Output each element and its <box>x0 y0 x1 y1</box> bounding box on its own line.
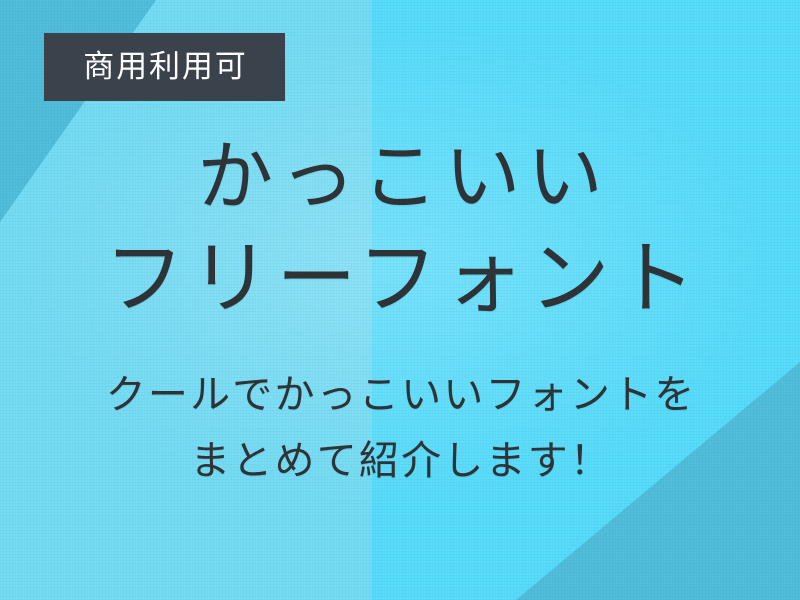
subtitle-line-2: まとめて紹介します！ <box>0 428 800 494</box>
subtitle-line-1: クールでかっこいいフォントを <box>0 362 800 428</box>
banner-canvas: 商用利用可 かっこいい フリーフォント クールでかっこいいフォントを まとめて紹… <box>0 0 800 600</box>
content-layer: 商用利用可 かっこいい フリーフォント クールでかっこいいフォントを まとめて紹… <box>0 0 800 600</box>
subtitle-block: クールでかっこいいフォントを まとめて紹介します！ <box>0 362 800 494</box>
headline-line-2: フリーフォント <box>0 228 800 330</box>
headline-line-1: かっこいい <box>0 126 800 228</box>
headline-block: かっこいい フリーフォント <box>0 126 800 330</box>
commercial-use-badge: 商用利用可 <box>44 33 285 101</box>
commercial-use-badge-label: 商用利用可 <box>81 52 247 83</box>
